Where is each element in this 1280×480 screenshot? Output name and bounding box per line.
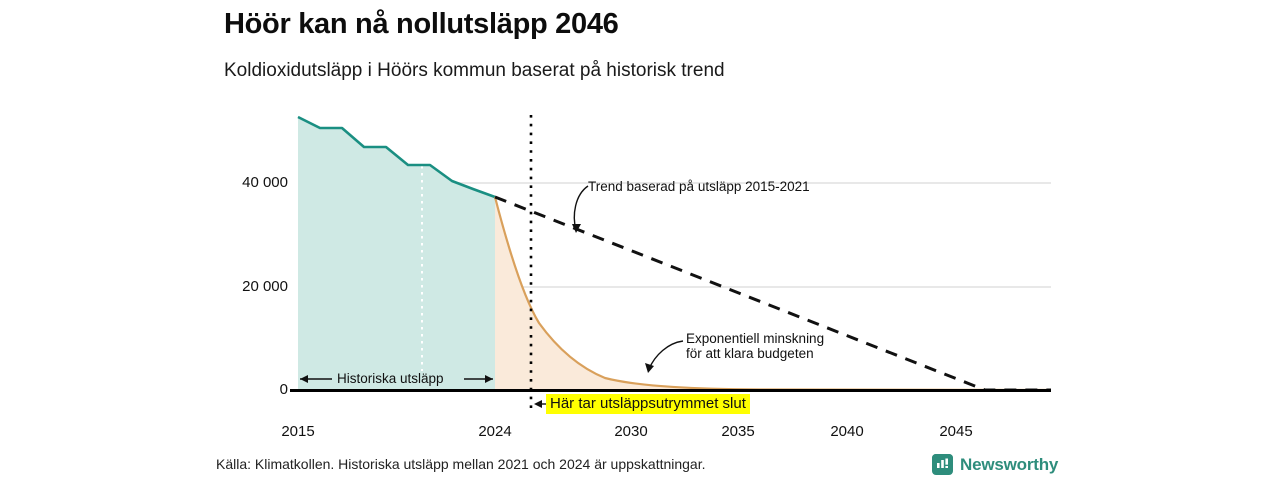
- trend-annotation-label: Trend baserad på utsläpp 2015-2021: [588, 179, 810, 194]
- ytick-label-40000: 40 000: [208, 174, 288, 191]
- xtick-label-2035: 2035: [703, 423, 773, 440]
- logo-wordmark: Newsworthy: [960, 455, 1058, 475]
- newsworthy-logo: Newsworthy: [932, 454, 1058, 475]
- historical-area: [298, 117, 495, 390]
- xtick-label-2045: 2045: [921, 423, 991, 440]
- ytick-label-20000: 20 000: [208, 278, 288, 295]
- bar-chart-icon: [932, 454, 953, 475]
- scenario-annotation-label: Exponentiell minskning för att klara bud…: [686, 331, 824, 361]
- scenario-annotation-line1: Exponentiell minskning: [686, 331, 824, 346]
- scenario-annotation-arrow: [645, 341, 683, 373]
- xtick-label-2024: 2024: [460, 423, 530, 440]
- xtick-label-2030: 2030: [596, 423, 666, 440]
- chart-container: Höör kan nå nollutsläpp 2046 Koldioxidut…: [0, 0, 1280, 480]
- budget-depleted-label: Här tar utsläppsutrymmet slut: [546, 394, 750, 414]
- xtick-label-2040: 2040: [812, 423, 882, 440]
- scenario-annotation-line2: för att klara budgeten: [686, 346, 814, 361]
- trend-annotation-arrow: [572, 186, 588, 233]
- source-note: Källa: Klimatkollen. Historiska utsläpp …: [216, 456, 706, 472]
- ytick-label-0: 0: [208, 381, 288, 398]
- historical-span-label: Historiska utsläpp: [337, 371, 444, 386]
- xtick-label-2015: 2015: [263, 423, 333, 440]
